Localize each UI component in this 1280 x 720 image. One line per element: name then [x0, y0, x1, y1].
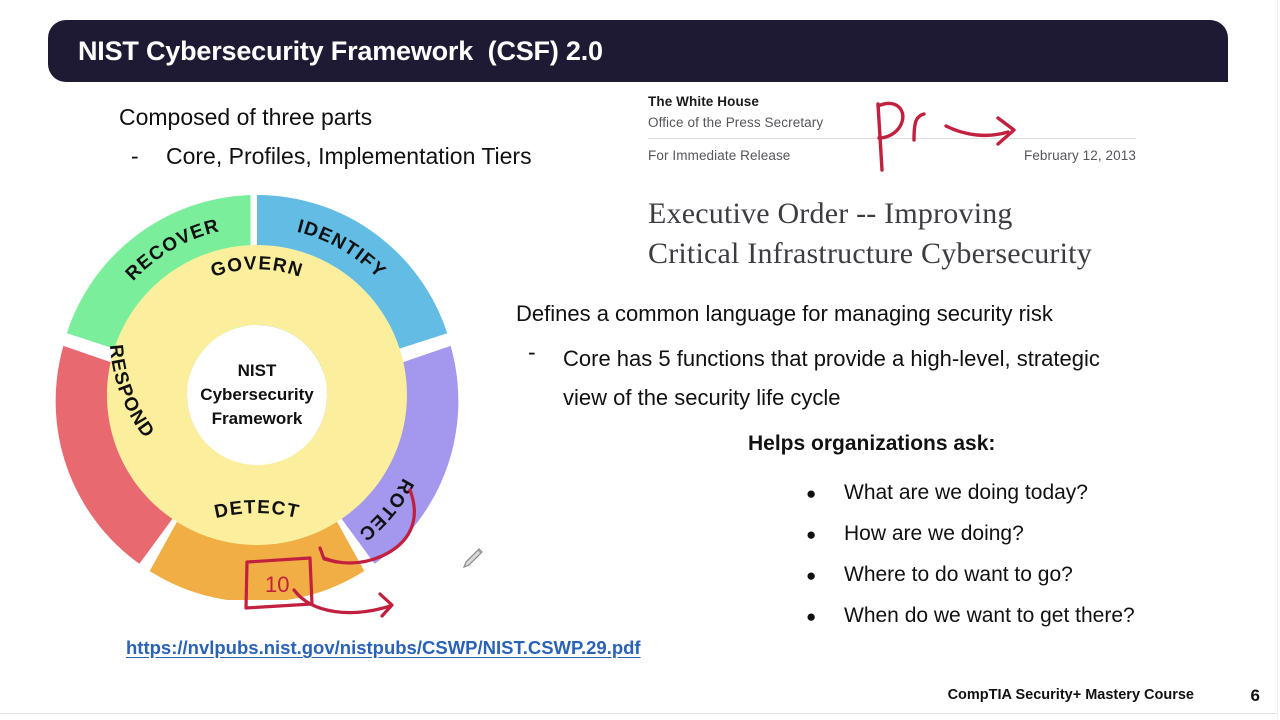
dash-marker: - — [131, 143, 166, 170]
asks-item-label: How are we doing? — [844, 522, 1024, 546]
slide-title-banner: NIST Cybersecurity Framework (CSF) 2.0 — [48, 20, 1228, 82]
asks-item-label: What are we doing today? — [844, 481, 1088, 505]
footer-course-label: CompTIA Security+ Mastery Course — [948, 687, 1194, 703]
list-item: ● When do we want to get there? — [806, 604, 1135, 628]
document-date: February 12, 2013 — [1024, 148, 1136, 163]
list-item: ● What are we doing today? — [806, 481, 1135, 505]
right-bullet-label: Core has 5 functions that provide a high… — [563, 339, 1100, 417]
footer-page-number: 6 — [1251, 686, 1260, 706]
right-bullet-line-2: view of the security life cycle — [563, 385, 841, 410]
left-bullet-item: - Core, Profiles, Implementation Tiers — [131, 143, 532, 170]
page-title: NIST Cybersecurity Framework (CSF) 2.0 — [78, 36, 603, 67]
csf-wheel-diagram: IDENTIFY PROTECT DETECT RESPOND RECOVER … — [52, 190, 462, 600]
slide-canvas: NIST Cybersecurity Framework (CSF) 2.0 C… — [0, 0, 1280, 720]
right-intro-text: Defines a common language for managing s… — [516, 301, 1053, 327]
asks-heading: Helps organizations ask: — [748, 432, 995, 456]
bullet-dot-icon: ● — [806, 608, 844, 625]
document-divider — [648, 138, 1136, 139]
executive-order-line-1: Executive Order -- Improving — [648, 194, 1168, 234]
document-release-label: For Immediate Release — [648, 148, 790, 163]
white-house-document: The White House Office of the Press Secr… — [648, 94, 1136, 163]
list-item: ● Where to do want to go? — [806, 563, 1135, 587]
document-subtitle: Office of the Press Secretary — [648, 115, 1136, 130]
asks-list: ● What are we doing today? ● How are we … — [806, 481, 1135, 645]
executive-order-title: Executive Order -- Improving Critical In… — [648, 194, 1168, 274]
left-bullet-label: Core, Profiles, Implementation Tiers — [166, 143, 532, 170]
asks-item-label: When do we want to get there? — [844, 604, 1135, 628]
document-title: The White House — [648, 94, 1136, 109]
dash-marker: - — [528, 339, 563, 366]
executive-order-line-2: Critical Infrastructure Cybersecurity — [648, 234, 1168, 274]
bullet-dot-icon: ● — [806, 526, 844, 543]
list-item: ● How are we doing? — [806, 522, 1135, 546]
left-intro-text: Composed of three parts — [119, 104, 372, 131]
nist-csf-pdf-link[interactable]: https://nvlpubs.nist.gov/nistpubs/CSWP/N… — [126, 637, 641, 659]
right-bullet-line-1: Core has 5 functions that provide a high… — [563, 346, 1100, 371]
wheel-center-disc — [187, 325, 327, 465]
pen-cursor-icon — [459, 546, 485, 572]
document-meta-row: For Immediate Release February 12, 2013 — [648, 148, 1136, 163]
bullet-dot-icon: ● — [806, 567, 844, 584]
asks-item-label: Where to do want to go? — [844, 563, 1073, 587]
bullet-dot-icon: ● — [806, 485, 844, 502]
slide-bottom-edge — [0, 713, 1280, 720]
right-bullet-item: - Core has 5 functions that provide a hi… — [528, 339, 1178, 417]
csf-wheel-svg: IDENTIFY PROTECT DETECT RESPOND RECOVER … — [52, 190, 462, 600]
